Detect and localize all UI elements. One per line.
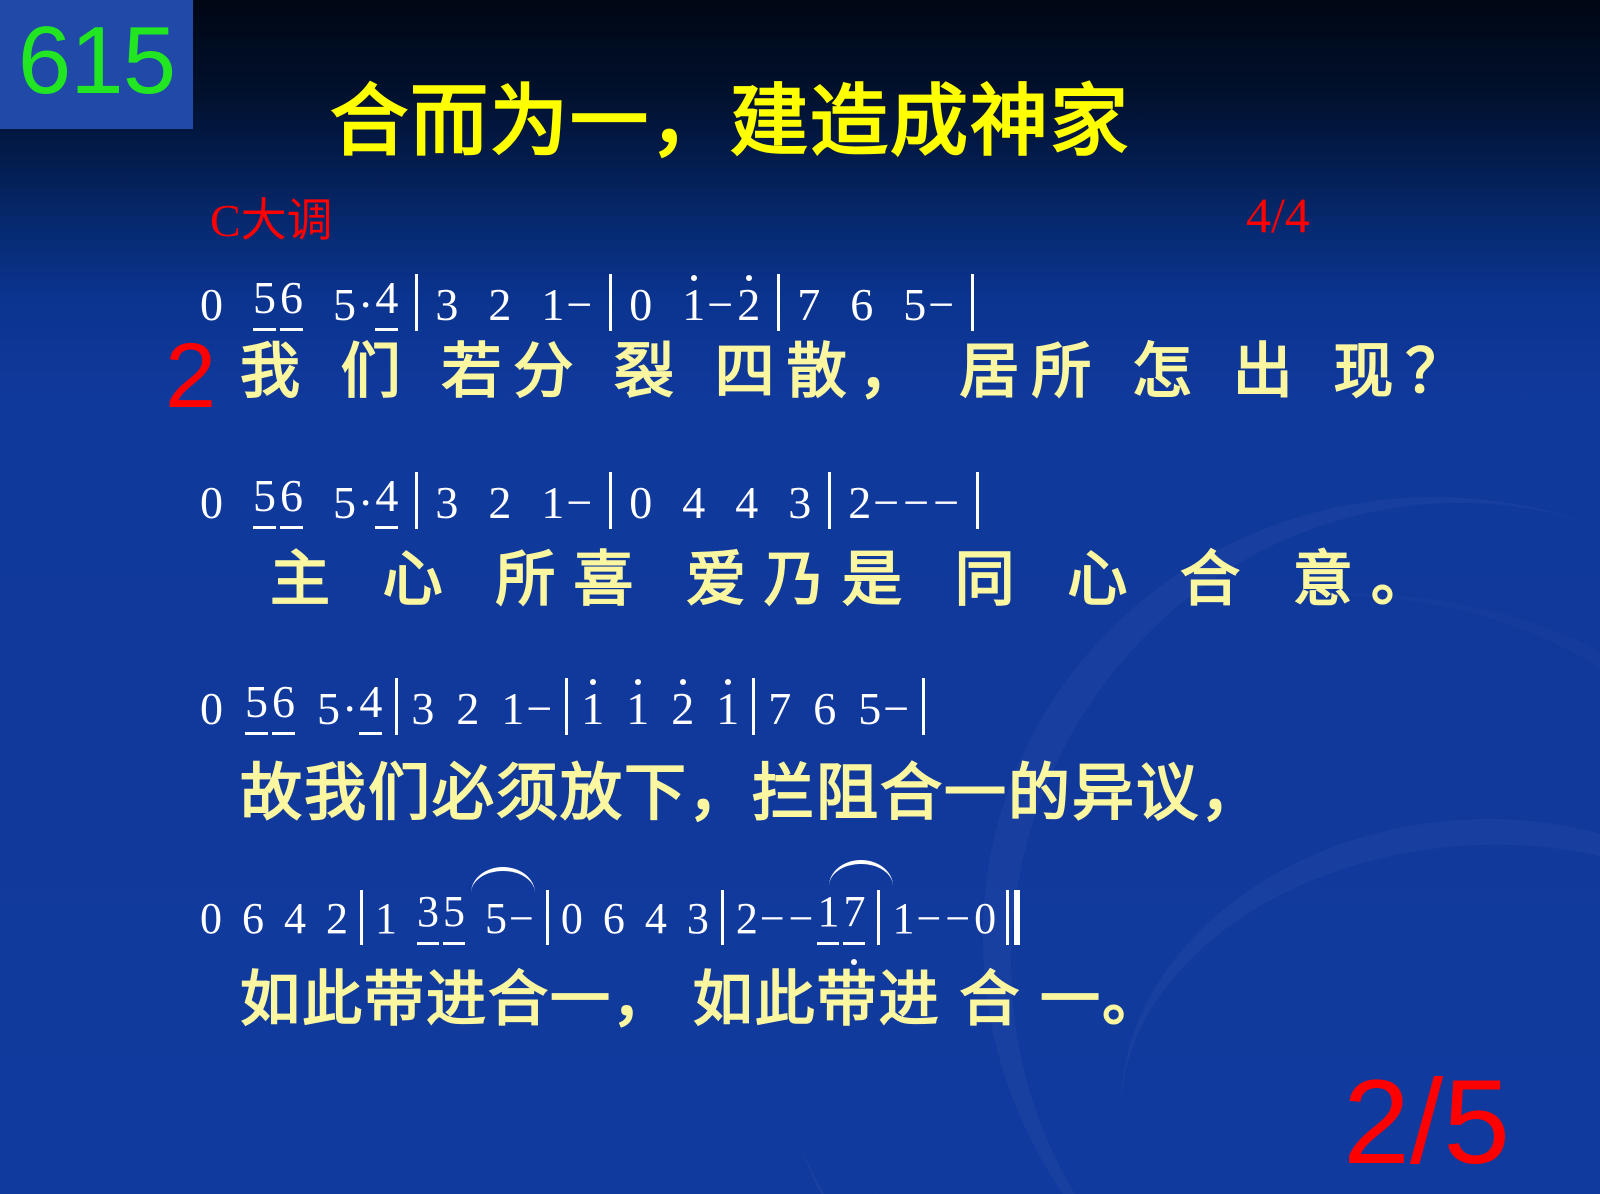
- note: 1: [682, 279, 705, 331]
- barline: [922, 678, 925, 736]
- note: 2: [671, 683, 694, 735]
- note: −: [526, 683, 552, 735]
- notation-line: 0565·4321−01−2765−: [200, 272, 991, 331]
- note: 7: [843, 886, 865, 945]
- hymn-number-badge: 615: [0, 0, 193, 129]
- note: 2: [456, 683, 479, 735]
- barline: [976, 472, 979, 530]
- slur-icon: [471, 867, 535, 893]
- note: 2: [737, 279, 760, 331]
- note: 3: [687, 893, 709, 945]
- barline: [565, 678, 568, 736]
- lyrics-line: 如此带进合一， 如此带进 合 一。: [240, 968, 1164, 1032]
- note: 5: [903, 279, 926, 331]
- note: 7: [797, 279, 820, 331]
- note: 6: [272, 676, 295, 735]
- note: −: [760, 893, 785, 945]
- notation-line: 0565·4321−1121765−: [200, 676, 938, 735]
- note: 6: [603, 893, 625, 945]
- note: 0: [200, 279, 223, 331]
- notation-line: 0565·4321−04432−−−: [200, 470, 996, 529]
- slur-icon: [829, 860, 893, 886]
- note: 5: [245, 676, 268, 735]
- note: −: [707, 279, 733, 331]
- note: −: [916, 893, 941, 945]
- note: 4: [645, 893, 667, 945]
- barline: [971, 274, 974, 332]
- note: 4: [359, 676, 382, 735]
- note: 0: [200, 683, 223, 735]
- note: 3: [417, 886, 439, 945]
- note: 1: [541, 477, 564, 529]
- barline: [546, 890, 549, 945]
- barline: [828, 472, 831, 530]
- note: 5: [253, 470, 276, 529]
- note: 0: [561, 893, 583, 945]
- note: 3: [411, 683, 434, 735]
- note: 6: [280, 272, 303, 331]
- note: 4: [682, 477, 705, 529]
- barline: [415, 472, 418, 530]
- note: −: [933, 477, 959, 529]
- barline: [721, 890, 724, 945]
- note: 5: [443, 886, 465, 945]
- barline: [877, 890, 880, 945]
- note: 4: [375, 272, 398, 331]
- note: 5: [333, 279, 356, 331]
- note: 1: [375, 893, 397, 945]
- note: −: [873, 477, 899, 529]
- note: −: [945, 893, 970, 945]
- note: 4: [375, 470, 398, 529]
- page-title: 合而为一，建造成神家: [330, 78, 1280, 164]
- note: 7: [768, 683, 791, 735]
- note: 5: [333, 477, 356, 529]
- barline: [752, 678, 755, 736]
- key-signature: C大调: [210, 196, 333, 246]
- barline: [395, 678, 398, 736]
- note: −: [903, 477, 929, 529]
- lyrics-line: 主 心 所喜 爱乃是 同 心 合 意。: [270, 548, 1449, 612]
- note: 1: [541, 279, 564, 331]
- notation-line: 06421355−06432−−171−−0: [200, 886, 1022, 945]
- note: 1: [892, 893, 914, 945]
- note: −: [883, 683, 909, 735]
- note: 4: [735, 477, 758, 529]
- final-barline: [1006, 890, 1022, 945]
- note: 1: [716, 683, 739, 735]
- note: 1: [626, 683, 649, 735]
- note: 6: [280, 470, 303, 529]
- page-number: 2/5: [1343, 1060, 1510, 1184]
- note: 1: [817, 886, 839, 945]
- note: −: [928, 279, 954, 331]
- hymn-number-text: 615: [0, 6, 193, 116]
- note: 6: [813, 683, 836, 735]
- note: 0: [200, 893, 222, 945]
- note: 1: [581, 683, 604, 735]
- note: 0: [629, 279, 652, 331]
- note: 0: [200, 477, 223, 529]
- note: 6: [850, 279, 873, 331]
- note: 3: [435, 477, 458, 529]
- note: ·: [358, 477, 373, 529]
- note: 5: [858, 683, 881, 735]
- note: −: [566, 279, 592, 331]
- note: 2: [488, 279, 511, 331]
- note: 0: [629, 477, 652, 529]
- note: 2: [848, 477, 871, 529]
- barline: [777, 274, 780, 332]
- note: −: [566, 477, 592, 529]
- note: ·: [358, 279, 373, 331]
- note: 3: [788, 477, 811, 529]
- barline: [609, 274, 612, 332]
- note: 6: [242, 893, 264, 945]
- barline: [360, 890, 363, 945]
- note: 5: [317, 683, 340, 735]
- note: ·: [342, 683, 357, 735]
- verse-number: 2: [165, 330, 216, 422]
- note: 2: [326, 893, 348, 945]
- note: 2: [488, 477, 511, 529]
- barline: [415, 274, 418, 332]
- note: −: [509, 893, 534, 945]
- note: 5: [485, 893, 507, 945]
- lyrics-line: 我 们 若分 裂 四散， 居所 怎 出 现？: [240, 340, 1477, 404]
- note: 0: [974, 893, 996, 945]
- slide-canvas: 615 合而为一，建造成神家 C大调 4/4 2 0565·4321−01−27…: [0, 0, 1600, 1194]
- note: 4: [284, 893, 306, 945]
- note: −: [789, 893, 814, 945]
- barline: [609, 472, 612, 530]
- time-signature: 4/4: [1246, 188, 1310, 242]
- note: 3: [435, 279, 458, 331]
- lyrics-line: 故我们必须放下，拦阻合一的异议，: [240, 762, 1264, 826]
- note: 2: [736, 893, 758, 945]
- note: 5: [253, 272, 276, 331]
- note: 1: [501, 683, 524, 735]
